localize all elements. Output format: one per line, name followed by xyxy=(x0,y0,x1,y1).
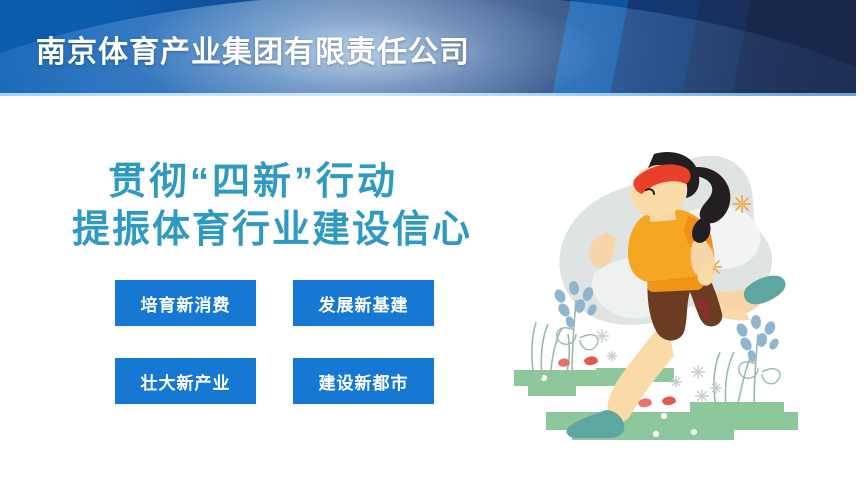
illustration-plant-left xyxy=(532,322,569,378)
header-diagonal-band-2 xyxy=(601,0,706,93)
button-new-consumption[interactable]: 培育新消费 xyxy=(115,280,256,326)
page-title: 贯彻“四新”行动 提振体育行业建设信心 xyxy=(70,158,500,254)
illustration-flower-right xyxy=(734,315,780,408)
header-diagonal-band-1 xyxy=(543,0,634,93)
running-woman-illustration xyxy=(498,124,848,474)
organization-title: 南京体育产业集团有限责任公司 xyxy=(36,27,470,71)
initiative-button-grid: 培育新消费 发展新基建 壮大新产业 建设新都市 xyxy=(115,280,445,436)
slide-canvas: 南京体育产业集团有限责任公司 贯彻“四新”行动 提振体育行业建设信心 培育新消费… xyxy=(0,0,856,487)
header-diagonal-band-3 xyxy=(673,0,756,93)
headline-line-2: 提振体育行业建设信心 xyxy=(70,206,500,254)
button-new-city[interactable]: 建设新都市 xyxy=(293,358,434,404)
header-diagonal-band-4 xyxy=(723,0,856,93)
content-area: 贯彻“四新”行动 提振体育行业建设信心 培育新消费 发展新基建 壮大新产业 建设… xyxy=(0,96,856,487)
button-row-2: 壮大新产业 建设新都市 xyxy=(115,358,445,404)
button-row-1: 培育新消费 发展新基建 xyxy=(115,280,445,326)
page-header-banner: 南京体育产业集团有限责任公司 xyxy=(0,0,856,93)
illustration-plant-right xyxy=(714,352,750,406)
button-new-industry[interactable]: 壮大新产业 xyxy=(115,358,256,404)
headline-line-1: 贯彻“四新”行动 xyxy=(70,158,500,206)
button-new-infrastructure[interactable]: 发展新基建 xyxy=(293,280,434,326)
